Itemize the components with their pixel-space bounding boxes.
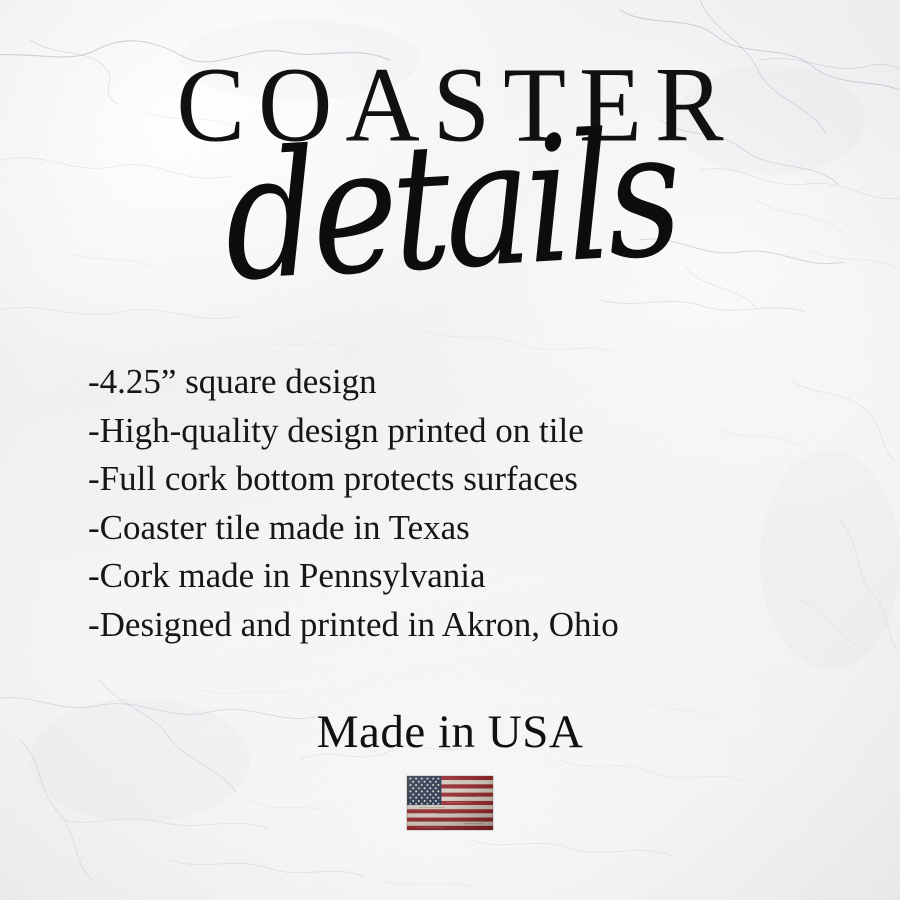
list-item: -Coaster tile made in Texas <box>88 504 848 553</box>
list-item: -High-quality design printed on tile <box>88 407 848 456</box>
details-list: -4.25” square design -High-quality desig… <box>88 358 848 649</box>
list-item: -Cork made in Pennsylvania <box>88 552 848 601</box>
list-item: -4.25” square design <box>88 358 848 407</box>
card-content: COASTER details -4.25” square design -Hi… <box>0 0 900 900</box>
coaster-details-card: COASTER details -4.25” square design -Hi… <box>0 0 900 900</box>
list-item: -Designed and printed in Akron, Ohio <box>88 601 848 650</box>
made-in-usa-label: Made in USA <box>0 708 900 757</box>
united-states-flag-icon <box>407 776 493 830</box>
list-item: -Full cork bottom protects surfaces <box>88 455 848 504</box>
